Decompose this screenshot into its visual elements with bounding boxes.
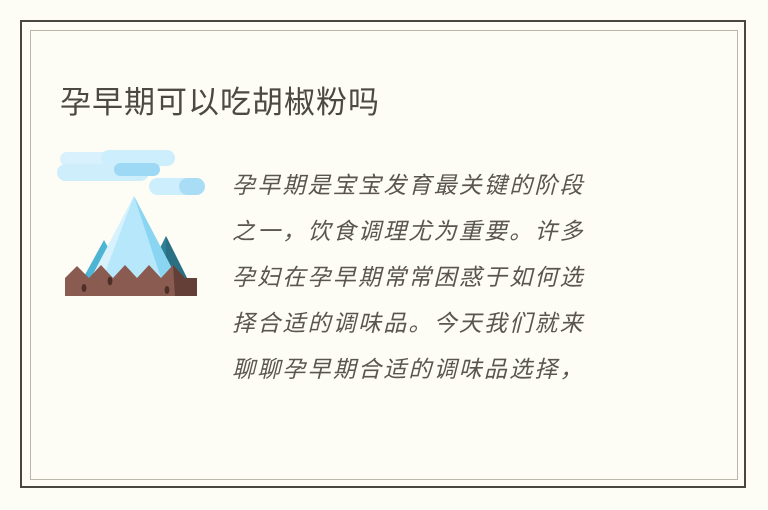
rock-dot: [165, 286, 170, 294]
body-line: 择合适的调味品。今天我们就来: [232, 301, 662, 347]
cloud-group: [57, 150, 205, 195]
rock-dot: [82, 284, 87, 292]
page-title: 孕早期可以吃胡椒粉吗: [60, 83, 380, 123]
body-line: 聊聊孕早期合适的调味品选择，: [232, 347, 662, 393]
body-line: 孕妇在孕早期常常困惑于如何选: [232, 255, 662, 301]
rock-dot: [108, 277, 113, 286]
body-line: 之一，饮食调理尤为重要。许多: [232, 209, 662, 255]
page-canvas: 孕早期可以吃胡椒粉吗: [0, 0, 768, 510]
body-line: 孕早期是宝宝发育最关键的阶段: [232, 163, 662, 209]
mountain-base-shadow: [173, 265, 197, 296]
article-body: 孕早期是宝宝发育最关键的阶段 之一，饮食调理尤为重要。许多 孕妇在孕早期常常困惑…: [232, 163, 662, 393]
snow-mountain-icon: [57, 148, 207, 300]
